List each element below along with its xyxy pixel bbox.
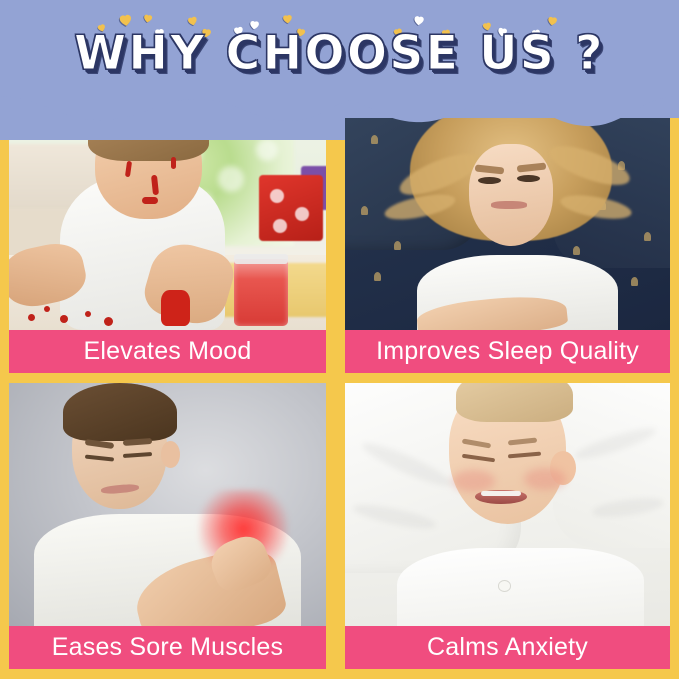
benefit-caption-elevates-mood: Elevates Mood [9, 330, 326, 373]
benefit-image-eases-sore-muscles [9, 383, 326, 626]
benefit-card-eases-sore-muscles[interactable]: Eases Sore Muscles [9, 383, 326, 669]
page-title: WHY CHOOSE US ? [0, 26, 679, 81]
benefit-image-elevates-mood [9, 108, 326, 330]
benefit-card-elevates-mood[interactable]: Elevates Mood [9, 108, 326, 373]
benefit-image-improves-sleep-quality [345, 108, 670, 330]
benefit-caption-calms-anxiety: Calms Anxiety [345, 626, 670, 669]
benefit-image-calms-anxiety [345, 383, 670, 626]
benefit-card-improves-sleep-quality[interactable]: Improves Sleep Quality [345, 108, 670, 373]
poster-root: WHY CHOOSE US ? [0, 0, 679, 679]
benefit-caption-eases-sore-muscles: Eases Sore Muscles [9, 626, 326, 669]
benefits-grid: Elevates Mood [0, 108, 679, 679]
benefit-caption-improves-sleep-quality: Improves Sleep Quality [345, 330, 670, 373]
benefit-card-calms-anxiety[interactable]: Calms Anxiety [345, 383, 670, 669]
